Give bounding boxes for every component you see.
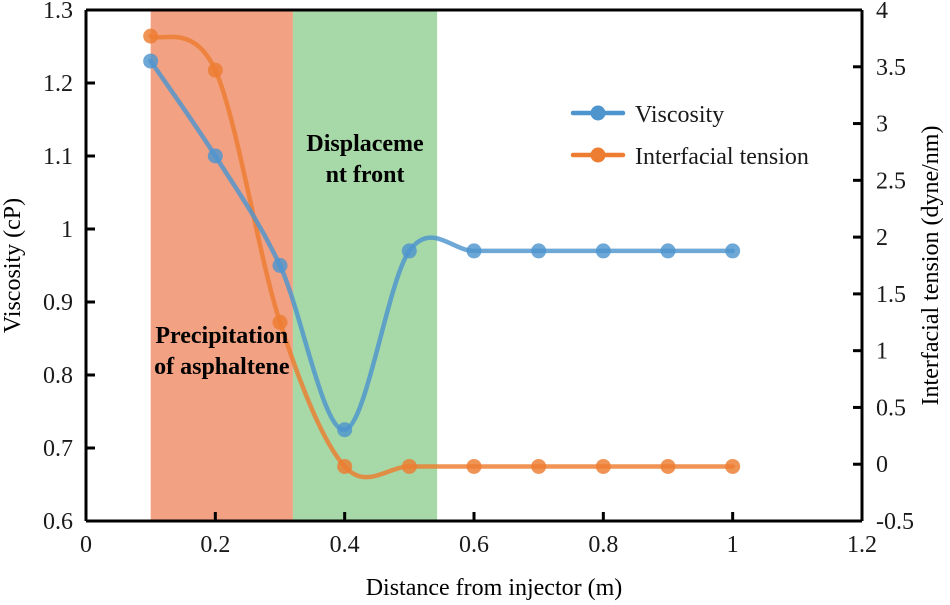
y2-tick-label: 2.5 (876, 168, 906, 194)
shaded-regions (151, 12, 437, 522)
legend-swatch-marker (591, 148, 606, 163)
data-point (402, 243, 417, 258)
x-tick-label: 1.2 (847, 532, 877, 558)
x-tick-label: 0.6 (459, 532, 489, 558)
y-tick-label: 0.8 (43, 363, 73, 389)
x-axis-tick-labels: 00.20.40.60.811.2 (80, 532, 877, 558)
chart-svg: 00.20.40.60.811.2 0.60.70.80.911.11.21.3… (0, 0, 950, 605)
y-axis-title: Viscosity (cP) (0, 198, 26, 333)
y-tick-label: 1 (61, 217, 73, 243)
y-tick-label: 1.2 (43, 71, 73, 97)
data-point (337, 459, 352, 474)
x-tick-label: 1 (727, 532, 739, 558)
data-point (531, 243, 546, 258)
data-point (725, 459, 740, 474)
data-point (208, 149, 223, 164)
y2-axis-tick-labels: -0.500.511.522.533.54 (876, 0, 914, 535)
data-point (596, 459, 611, 474)
y2-axis-title: Interfacial tension (dyne/nm) (918, 126, 944, 406)
x-tick-label: 0 (80, 532, 92, 558)
data-point (143, 29, 158, 44)
y2-tick-label: 1.5 (876, 282, 906, 308)
data-point (143, 54, 158, 69)
x-axis-title: Distance from injector (m) (366, 575, 623, 601)
x-tick-label: 0.8 (588, 532, 618, 558)
data-point (273, 258, 288, 273)
y-tick-label: 0.9 (43, 290, 73, 316)
shaded-region-displacement-front (293, 12, 437, 522)
chart-legend: ViscosityInterfacial tension (573, 102, 809, 170)
y2-tick-label: -0.5 (876, 509, 914, 535)
data-point (661, 243, 676, 258)
data-point (467, 243, 482, 258)
y-tick-label: 0.7 (43, 436, 73, 462)
legend-label: Interfacial tension (635, 144, 809, 170)
region-label-line: Displaceme (306, 131, 424, 157)
data-point (337, 422, 352, 437)
data-point (531, 459, 546, 474)
y2-tick-label: 0.5 (876, 395, 906, 421)
data-point (402, 459, 417, 474)
region-label-line: of asphaltene (154, 354, 290, 380)
y2-tick-label: 2 (876, 225, 888, 251)
y-axis-tick-labels: 0.60.70.80.911.11.21.3 (43, 0, 73, 535)
y2-tick-label: 3.5 (876, 55, 906, 81)
y2-tick-label: 1 (876, 339, 888, 365)
x-tick-label: 0.4 (330, 532, 360, 558)
chart-figure: 00.20.40.60.811.2 0.60.70.80.911.11.21.3… (0, 0, 950, 605)
region-label-line: nt front (326, 162, 405, 188)
y-tick-label: 1.3 (43, 0, 73, 24)
y2-tick-label: 4 (876, 0, 888, 24)
data-point (208, 63, 223, 78)
data-point (596, 243, 611, 258)
legend-swatch-marker (591, 106, 606, 121)
region-label-line: Precipitation (155, 323, 288, 349)
y2-tick-label: 3 (876, 112, 888, 138)
legend-label: Viscosity (635, 102, 724, 128)
data-point (661, 459, 676, 474)
y-tick-label: 1.1 (43, 144, 73, 170)
y-tick-label: 0.6 (43, 509, 73, 535)
data-point (725, 243, 740, 258)
x-tick-label: 0.2 (200, 532, 230, 558)
data-point (467, 459, 482, 474)
y2-tick-label: 0 (876, 452, 888, 478)
